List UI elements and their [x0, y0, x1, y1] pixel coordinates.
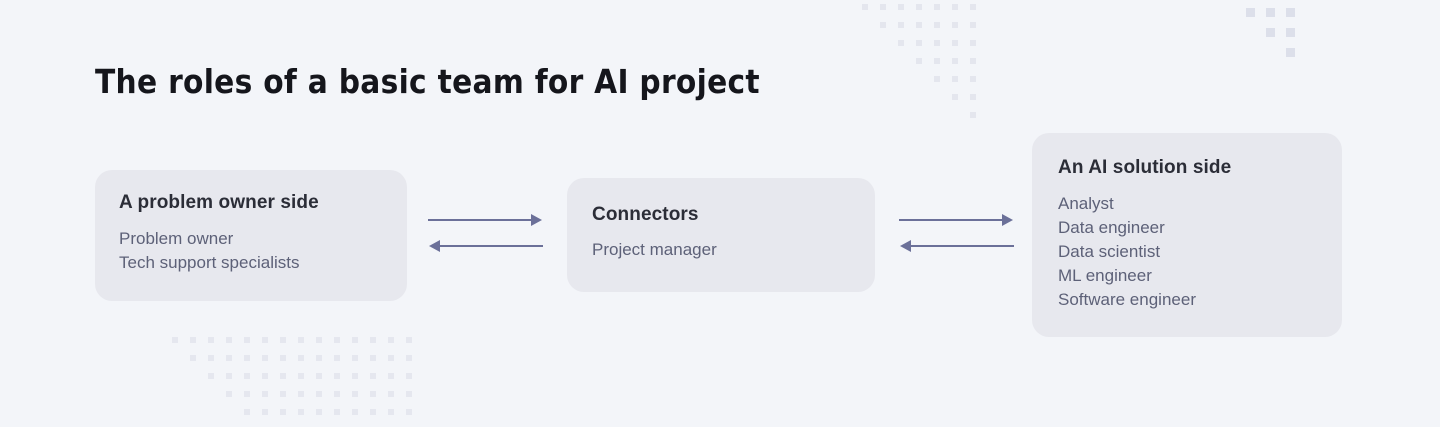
decorative-dot	[970, 4, 976, 10]
decorative-dot	[208, 355, 214, 361]
decorative-dot	[298, 373, 304, 379]
decorative-dot-row	[862, 40, 988, 58]
decorative-dot	[970, 58, 976, 64]
decorative-dot-row	[172, 337, 424, 355]
arrow-right-icon	[428, 214, 542, 226]
decorative-dot	[916, 4, 922, 10]
decorative-dot	[970, 94, 976, 100]
decorative-dot	[406, 409, 412, 415]
list-item: Project manager	[592, 238, 850, 262]
card-connectors: Connectors Project manager	[567, 178, 875, 292]
decorative-dot-spacer	[862, 112, 970, 113]
decorative-dot	[352, 409, 358, 415]
decorative-dot	[262, 373, 268, 379]
decorative-dot	[352, 337, 358, 343]
decorative-dot-row	[862, 58, 988, 76]
decorative-dot	[226, 355, 232, 361]
decorative-dot	[316, 355, 322, 361]
decorative-dot-spacer	[172, 355, 190, 356]
decorative-dot-row	[862, 76, 988, 94]
decorative-dot	[244, 391, 250, 397]
decorative-dot-spacer	[172, 373, 208, 374]
decorative-dot	[1286, 28, 1295, 37]
decorative-dot	[370, 337, 376, 343]
decorative-dot	[898, 22, 904, 28]
decorative-dot-spacer	[862, 40, 898, 41]
decorative-dot-spacer	[862, 94, 952, 95]
decorative-dot	[916, 40, 922, 46]
decorative-dot-spacer	[862, 22, 880, 23]
decorative-dot	[880, 22, 886, 28]
list-item: Data engineer	[1058, 216, 1316, 240]
decorative-dot	[262, 355, 268, 361]
decorative-dot-spacer	[862, 76, 934, 77]
decorative-dots-top-right	[862, 4, 988, 130]
decorative-dot-row	[1246, 8, 1306, 28]
decorative-dot	[208, 373, 214, 379]
decorative-dot	[280, 373, 286, 379]
decorative-dot	[352, 355, 358, 361]
card-connectors-title: Connectors	[592, 204, 850, 226]
card-ai-solution-title: An AI solution side	[1058, 157, 1316, 179]
card-ai-solution: An AI solution side Analyst Data enginee…	[1032, 133, 1342, 337]
decorative-dot	[352, 373, 358, 379]
decorative-dot	[280, 391, 286, 397]
decorative-dots-bottom-left	[172, 337, 424, 427]
decorative-dot	[298, 409, 304, 415]
decorative-dot	[880, 4, 886, 10]
decorative-dot	[244, 409, 250, 415]
decorative-dot	[316, 337, 322, 343]
decorative-dot	[334, 355, 340, 361]
decorative-dot	[406, 391, 412, 397]
list-item: Analyst	[1058, 192, 1316, 216]
decorative-dot	[208, 337, 214, 343]
decorative-dot	[262, 391, 268, 397]
decorative-dot-row	[862, 4, 988, 22]
decorative-dot	[952, 58, 958, 64]
decorative-dot	[334, 373, 340, 379]
decorative-dot	[952, 40, 958, 46]
decorative-dot	[862, 4, 868, 10]
decorative-dot	[262, 337, 268, 343]
decorative-dot	[370, 373, 376, 379]
card-ai-solution-role-list: Analyst Data engineer Data scientist ML …	[1058, 192, 1316, 312]
decorative-dot	[226, 337, 232, 343]
decorative-dot	[370, 391, 376, 397]
decorative-dot	[370, 409, 376, 415]
decorative-dot-spacer	[172, 391, 226, 392]
decorative-dot	[190, 355, 196, 361]
decorative-dot-row	[172, 355, 424, 373]
decorative-dot-row	[172, 373, 424, 391]
decorative-dot-spacer	[1246, 28, 1266, 29]
decorative-dot	[280, 355, 286, 361]
decorative-dot	[916, 58, 922, 64]
decorative-dot	[172, 337, 178, 343]
decorative-dot	[1266, 28, 1275, 37]
decorative-dot	[316, 409, 322, 415]
decorative-dot	[1246, 8, 1255, 17]
decorative-dot	[406, 373, 412, 379]
arrow-left-icon	[900, 240, 1014, 252]
decorative-dot	[334, 337, 340, 343]
arrow-left-icon	[429, 240, 543, 252]
decorative-dot	[352, 391, 358, 397]
decorative-dot	[298, 355, 304, 361]
decorative-dot	[952, 94, 958, 100]
list-item: Software engineer	[1058, 288, 1316, 312]
decorative-dot-row	[172, 391, 424, 409]
card-connectors-role-list: Project manager	[592, 238, 850, 262]
decorative-dot-row	[172, 409, 424, 427]
decorative-dot-row	[1246, 28, 1306, 48]
list-item: Problem owner	[119, 227, 383, 251]
decorative-dot	[388, 373, 394, 379]
list-item: Tech support specialists	[119, 251, 383, 275]
decorative-dot	[388, 355, 394, 361]
decorative-dot	[388, 337, 394, 343]
decorative-dot-spacer	[1246, 48, 1286, 49]
connector-problem-owner-to-connectors	[428, 206, 543, 258]
decorative-dot	[316, 391, 322, 397]
decorative-dot	[934, 40, 940, 46]
decorative-dot-row	[862, 112, 988, 130]
decorative-dot	[952, 4, 958, 10]
decorative-dot	[970, 112, 976, 118]
decorative-dot	[244, 355, 250, 361]
arrow-right-icon	[899, 214, 1013, 226]
decorative-dot	[262, 409, 268, 415]
decorative-dot	[970, 40, 976, 46]
connector-connectors-to-ai-solution	[899, 206, 1014, 258]
decorative-dot	[244, 373, 250, 379]
decorative-dot	[406, 355, 412, 361]
decorative-dot	[298, 391, 304, 397]
decorative-dot	[1266, 8, 1275, 17]
decorative-dot	[388, 391, 394, 397]
decorative-dot	[334, 391, 340, 397]
decorative-dots-corner-right	[1246, 8, 1306, 68]
decorative-dot-row	[862, 22, 988, 40]
decorative-dot-row	[1246, 48, 1306, 68]
card-problem-owner-title: A problem owner side	[119, 192, 383, 214]
decorative-dot	[970, 22, 976, 28]
decorative-dot	[898, 4, 904, 10]
list-item: ML engineer	[1058, 264, 1316, 288]
decorative-dot	[934, 4, 940, 10]
decorative-dot	[280, 337, 286, 343]
decorative-dot	[934, 58, 940, 64]
decorative-dot	[934, 22, 940, 28]
decorative-dot	[952, 22, 958, 28]
decorative-dot	[190, 337, 196, 343]
decorative-dot	[226, 373, 232, 379]
decorative-dot-spacer	[172, 409, 244, 410]
list-item: Data scientist	[1058, 240, 1316, 264]
decorative-dot	[280, 409, 286, 415]
decorative-dot	[388, 409, 394, 415]
decorative-dot	[1286, 48, 1295, 57]
decorative-dot	[406, 337, 412, 343]
decorative-dot-row	[862, 94, 988, 112]
decorative-dot	[934, 76, 940, 82]
decorative-dot	[1286, 8, 1295, 17]
decorative-dot	[334, 409, 340, 415]
page-title: The roles of a basic team for AI project	[95, 62, 760, 101]
decorative-dot	[916, 22, 922, 28]
decorative-dot	[316, 373, 322, 379]
decorative-dot	[370, 355, 376, 361]
decorative-dot	[970, 76, 976, 82]
decorative-dot	[952, 76, 958, 82]
decorative-dot	[898, 40, 904, 46]
decorative-dot	[244, 337, 250, 343]
decorative-dot	[226, 391, 232, 397]
decorative-dot-spacer	[862, 58, 916, 59]
decorative-dot	[298, 337, 304, 343]
card-problem-owner: A problem owner side Problem owner Tech …	[95, 170, 407, 301]
card-problem-owner-role-list: Problem owner Tech support specialists	[119, 227, 383, 275]
